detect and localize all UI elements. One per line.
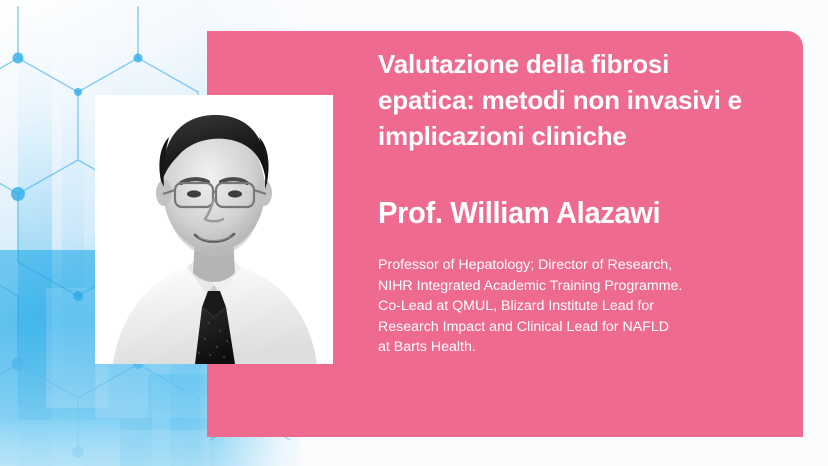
speaker-bio-line: Co-Lead at QMUL, Blizard Institute Lead … bbox=[378, 296, 770, 317]
speaker-name: Prof. William Alazawi bbox=[378, 154, 746, 230]
speaker-bio-line: at Barts Health. bbox=[378, 337, 770, 358]
speaker-bio-line: Research Impact and Clinical Lead for NA… bbox=[378, 317, 770, 338]
speaker-title-slide: Black and white headshot of a man wearin… bbox=[0, 0, 828, 466]
portrait-image: Black and white headshot of a man wearin… bbox=[95, 95, 333, 364]
speaker-portrait: Black and white headshot of a man wearin… bbox=[95, 95, 333, 364]
speaker-bio: Professor of Hepatology; Director of Res… bbox=[378, 230, 770, 358]
speaker-bio-line: NIHR Integrated Academic Training Progra… bbox=[378, 276, 770, 297]
text-block: Valutazione della fibrosi epatica: metod… bbox=[378, 46, 770, 358]
page-title: Valutazione della fibrosi epatica: metod… bbox=[378, 46, 770, 154]
speaker-bio-line: Professor of Hepatology; Director of Res… bbox=[378, 255, 770, 276]
